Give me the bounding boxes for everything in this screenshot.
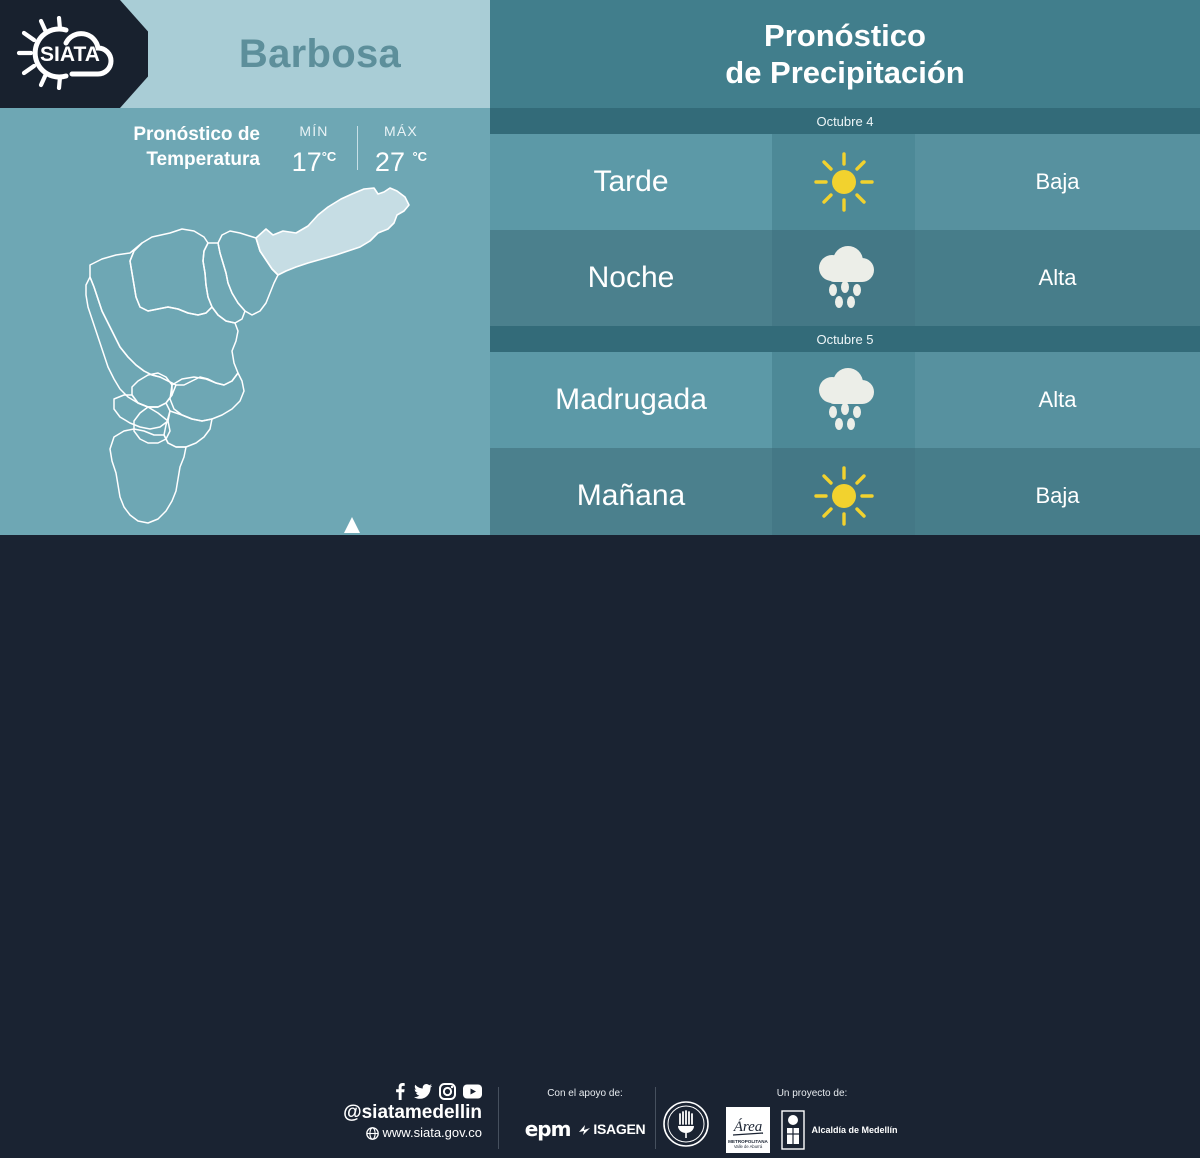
precipitation-title-line2: de Precipitación bbox=[725, 54, 964, 91]
temperature-min-label: MÍN bbox=[275, 122, 353, 141]
social-icons bbox=[322, 1083, 482, 1100]
left-panel: SIATA Barbosa Pronóstico de Temperatura … bbox=[0, 0, 490, 535]
epm-logo: epm bbox=[525, 1117, 571, 1141]
forecast-row: Noche Alta bbox=[490, 230, 1200, 326]
footer: @siatamedellin www.siata.gov.co Con el a… bbox=[0, 535, 1200, 630]
project-block: Un proyecto de: Área METROPOLITANA Valle… bbox=[712, 1087, 912, 1153]
forecast-period: Madrugada bbox=[490, 352, 772, 448]
temperature-max-label: MÁX bbox=[362, 122, 440, 141]
forecast-period: Mañana bbox=[490, 448, 772, 544]
globe-icon bbox=[366, 1127, 379, 1140]
temperature-max: MÁX 27 °C bbox=[362, 122, 440, 178]
website-text: www.siata.gov.co bbox=[383, 1124, 482, 1142]
forecast-row: Madrugada Alta bbox=[490, 352, 1200, 448]
precipitation-title-line1: Pronóstico bbox=[764, 17, 926, 54]
weather-forecast-poster: SIATA Barbosa Pronóstico de Temperatura … bbox=[0, 0, 1200, 630]
alcaldia-crest-icon bbox=[780, 1110, 806, 1150]
social-handle[interactable]: @siatamedellin bbox=[322, 1102, 482, 1124]
forecast-row: Mañana Baja bbox=[490, 448, 1200, 544]
map-region-barbosa bbox=[256, 188, 409, 275]
temperature-block: Pronóstico de Temperatura MÍN 17°C MÁX 2… bbox=[70, 122, 430, 184]
temperature-title: Pronóstico de Temperatura bbox=[70, 122, 260, 172]
sun-icon bbox=[772, 448, 915, 544]
forecast-probability: Alta bbox=[915, 230, 1200, 326]
forecast-probability: Baja bbox=[915, 448, 1200, 544]
date-band-day2: Octubre 5 bbox=[490, 326, 1200, 352]
temperature-title-line2: Temperatura bbox=[70, 147, 260, 172]
map-svg bbox=[60, 185, 440, 530]
project-label: Un proyecto de: bbox=[712, 1087, 912, 1101]
area-metropolitana-logo: Área METROPOLITANA Valle de Aburrá bbox=[726, 1107, 770, 1153]
area-logo-sub2: Valle de Aburrá bbox=[734, 1144, 763, 1149]
twitter-icon[interactable] bbox=[414, 1083, 432, 1100]
sun-cloud-icon: SIATA bbox=[14, 16, 126, 90]
isagen-logo-text: ISAGEN bbox=[593, 1121, 645, 1137]
website-link[interactable]: www.siata.gov.co bbox=[322, 1124, 482, 1142]
temperature-max-value: 27 °C bbox=[362, 141, 440, 178]
support-logos: epm ISAGEN bbox=[505, 1117, 665, 1141]
forecast-period: Tarde bbox=[490, 134, 772, 230]
left-header: SIATA Barbosa bbox=[0, 0, 490, 108]
date-band-day1: Octubre 4 bbox=[490, 108, 1200, 134]
isagen-logo: ISAGEN bbox=[578, 1121, 645, 1137]
aburra-valley-map: N bbox=[60, 185, 440, 530]
footer-divider bbox=[655, 1087, 656, 1149]
siata-logo-text: SIATA bbox=[40, 43, 100, 66]
forecast-probability: Baja bbox=[915, 134, 1200, 230]
rain-cloud-icon bbox=[772, 230, 915, 326]
area-logo-text: Área bbox=[733, 1118, 763, 1135]
siata-logo-banner: SIATA bbox=[0, 0, 148, 108]
rain-cloud-icon bbox=[772, 352, 915, 448]
precipitation-header: Pronóstico de Precipitación bbox=[490, 0, 1200, 108]
facebook-icon[interactable] bbox=[392, 1083, 407, 1100]
isagen-mark-icon bbox=[578, 1123, 591, 1136]
youtube-icon[interactable] bbox=[463, 1083, 482, 1100]
alcaldia-de-medellin-logo: Alcaldía de Medellín bbox=[780, 1110, 897, 1150]
temperature-min-value: 17°C bbox=[275, 141, 353, 178]
unal-seal bbox=[663, 1101, 709, 1147]
footer-divider bbox=[498, 1087, 499, 1149]
support-label: Con el apoyo de: bbox=[505, 1087, 665, 1101]
forecast-period: Noche bbox=[490, 230, 772, 326]
instagram-icon[interactable] bbox=[439, 1083, 456, 1100]
social-block: @siatamedellin www.siata.gov.co bbox=[322, 1083, 482, 1142]
forecast-row: Tarde Baja bbox=[490, 134, 1200, 230]
temperature-values: MÍN 17°C MÁX 27 °C bbox=[275, 122, 440, 178]
right-panel: Pronóstico de Precipitación Octubre 4 Ta… bbox=[490, 0, 1200, 535]
forecast-probability: Alta bbox=[915, 352, 1200, 448]
temperature-min: MÍN 17°C bbox=[275, 122, 353, 178]
sun-icon bbox=[772, 134, 915, 230]
project-logos: Área METROPOLITANA Valle de Aburrá Al bbox=[712, 1107, 912, 1153]
temperature-title-line1: Pronóstico de bbox=[70, 122, 260, 147]
temperature-max-unit: °C bbox=[412, 149, 427, 164]
map-region-outlines bbox=[86, 229, 278, 523]
support-block: Con el apoyo de: epm ISAGEN bbox=[505, 1087, 665, 1141]
temperature-separator bbox=[357, 126, 358, 170]
alcaldia-logo-text: Alcaldía de Medellín bbox=[811, 1125, 897, 1135]
city-title: Barbosa bbox=[150, 0, 490, 108]
north-arrow-icon bbox=[338, 515, 366, 535]
temperature-min-unit: °C bbox=[322, 149, 337, 164]
